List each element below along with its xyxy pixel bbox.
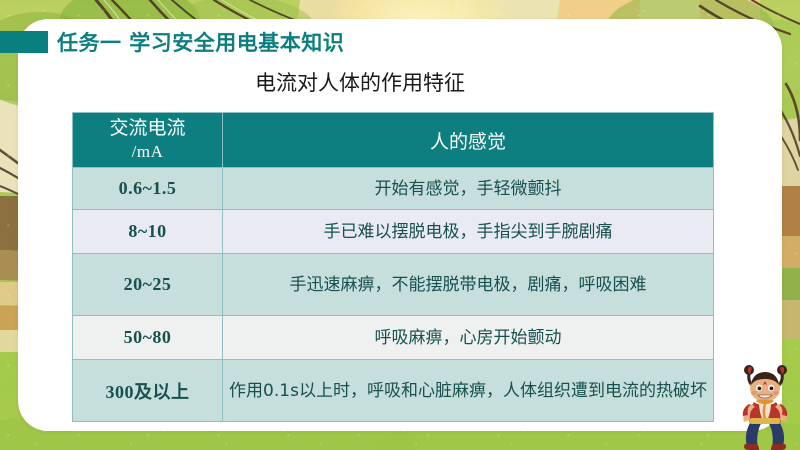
cell-feeling-description: 作用0.1s以上时，呼吸和心脏麻痹，人体组织遭到电流的热破坏 xyxy=(223,360,714,422)
cell-feeling-description: 手迅速麻痹，不能摆脱带电极，剧痛，呼吸困难 xyxy=(223,254,714,316)
cell-current-range: 20~25 xyxy=(73,254,223,316)
cell-feeling-description: 手已难以摆脱电极，手指尖到手腕剧痛 xyxy=(223,210,714,254)
section-subtitle: 电流对人体的作用特征 xyxy=(255,70,505,97)
nezha-character-icon xyxy=(732,354,798,450)
cell-feeling-description: 呼吸麻痹，心房开始颤动 xyxy=(223,316,714,360)
page-title: 任务一 学习安全用电基本知识 xyxy=(57,27,344,57)
cell-current-range: 300及以上 xyxy=(73,360,223,422)
table-row: 8~10 手已难以摆脱电极，手指尖到手腕剧痛 xyxy=(73,210,714,254)
cell-feeling-description: 开始有感觉，手轻微颤抖 xyxy=(223,168,714,210)
title-accent-bar xyxy=(0,31,48,53)
table-header-current-unit: /mA xyxy=(79,140,216,163)
table-header-feeling: 人的感觉 xyxy=(223,113,714,168)
cell-current-range: 0.6~1.5 xyxy=(73,168,223,210)
table-header-row: 交流电流 /mA 人的感觉 xyxy=(73,113,714,168)
table-header-current-label: 交流电流 xyxy=(109,117,185,139)
cell-current-range: 8~10 xyxy=(73,210,223,254)
table-row: 300及以上 作用0.1s以上时，呼吸和心脏麻痹，人体组织遭到电流的热破坏 xyxy=(73,360,714,422)
table-row: 50~80 呼吸麻痹，心房开始颤动 xyxy=(73,316,714,360)
slide-canvas: 任务一 学习安全用电基本知识 电流对人体的作用特征 交流电流 /mA 人的感觉 … xyxy=(0,0,800,450)
table-row: 0.6~1.5 开始有感觉，手轻微颤抖 xyxy=(73,168,714,210)
cell-current-range: 50~80 xyxy=(73,316,223,360)
table-row: 20~25 手迅速麻痹，不能摆脱带电极，剧痛，呼吸困难 xyxy=(73,254,714,316)
table-header-current: 交流电流 /mA xyxy=(73,113,223,168)
current-effects-table: 交流电流 /mA 人的感觉 0.6~1.5 开始有感觉，手轻微颤抖 8~10 手… xyxy=(72,112,713,422)
